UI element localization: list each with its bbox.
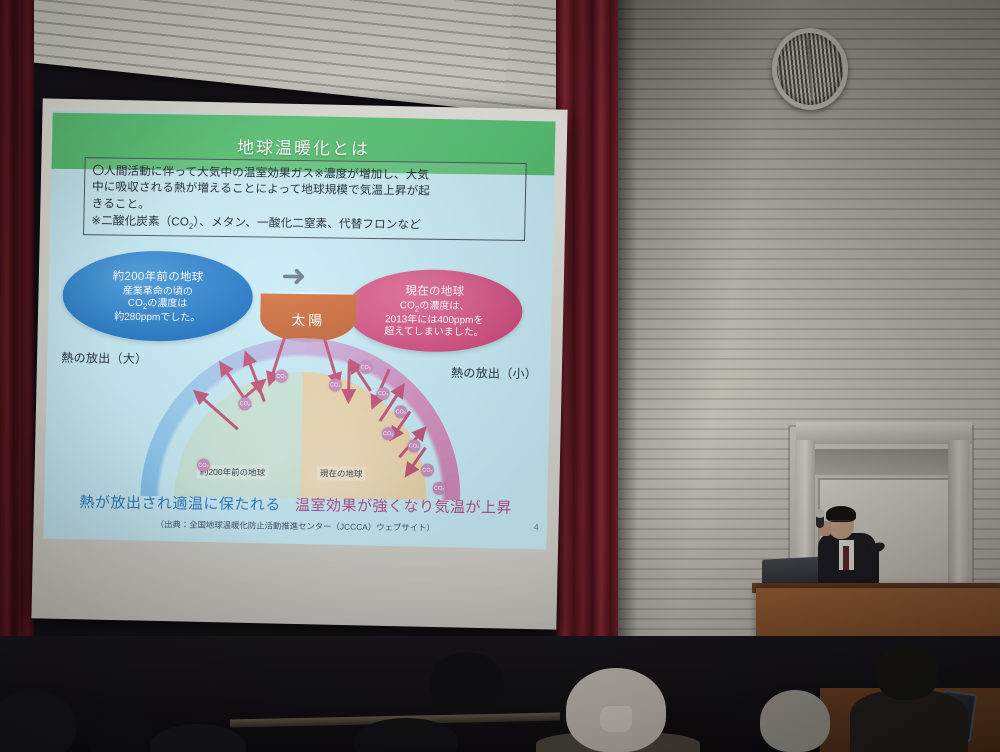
past-earth-line-3: 約280ppmでした。 xyxy=(114,312,200,326)
past-earth-callout: 約200年前の地球 産業革命の頃の CO2の濃度は 約280ppmでした。 xyxy=(62,250,254,342)
slide-body-box: 〇人間活動に伴って大気中の温室効果ガス※濃度が増加し、大気 中に吸収される熱が増… xyxy=(83,157,527,241)
doorway-carving xyxy=(806,449,956,475)
microphone-head-icon xyxy=(815,509,825,518)
present-earth-heading: 現在の地球 xyxy=(405,282,464,299)
conclusion-right: 温室効果が強くなり気温が上昇 xyxy=(295,494,512,518)
glasses-icon xyxy=(829,520,849,525)
present-co2-prefix: CO xyxy=(400,300,415,311)
present-earth-line-3: 超えてしまいました。 xyxy=(384,326,484,340)
past-earth-line-2: CO2の濃度は xyxy=(128,298,188,313)
audience-face-mask xyxy=(600,706,632,732)
heat-release-large-label: 熱の放出（大） xyxy=(61,349,147,367)
right-arrow-icon: ➜ xyxy=(281,264,338,291)
present-co2-suffix: の濃度は、 xyxy=(419,300,469,312)
stage-curtain-left xyxy=(0,0,34,690)
earth-dome-diagram: 約200年前の地球 現在の地球 CO₂ CO₂ CO₂ CO₂ CO₂ CO₂ … xyxy=(140,336,463,500)
audience-head xyxy=(430,652,504,714)
footnote-prefix: ※二酸化炭素（CO xyxy=(91,215,189,229)
present-earth-line-1: CO2の濃度は、 xyxy=(400,300,470,315)
audience-head-gray-hair xyxy=(760,690,830,752)
past-co2-suffix: の濃度は xyxy=(147,298,187,310)
presenter-tie xyxy=(843,546,849,570)
stage-curtain-right xyxy=(556,0,618,700)
slide-page-number: 4 xyxy=(534,522,539,532)
past-earth-heading: 約200年前の地球 xyxy=(113,267,204,284)
past-co2-prefix: CO xyxy=(128,298,143,309)
doorway-lintel xyxy=(796,422,972,444)
earth-present-label: 現在の地球 xyxy=(317,466,366,481)
conclusion-left: 熱が放出され適温に保たれる xyxy=(79,491,281,515)
projected-slide: 地球温暖化とは 〇人間活動に伴って大気中の温室効果ガス※濃度が増加し、大気 中に… xyxy=(43,111,555,550)
heat-release-small-label: 熱の放出（小） xyxy=(451,364,537,382)
heat-arrows xyxy=(140,336,463,500)
slide-conclusion: 熱が放出され適温に保たれる 温室効果が強くなり気温が上昇 xyxy=(44,491,547,519)
footnote-suffix: ）、メタン、一酸化二窒素、代替フロンなど xyxy=(193,216,421,232)
lecture-hall-scene: 地球温暖化とは 〇人間活動に伴って大気中の温室効果ガス※濃度が増加し、大気 中に… xyxy=(0,0,1000,752)
slide-source: （出典：全国地球温暖化防止活動推進センター（JCCCA）ウェブサイト） xyxy=(44,517,547,536)
audience-head xyxy=(876,644,938,700)
sun-shape: 太陽 xyxy=(260,293,357,342)
past-earth-line-1: 産業革命の頃の xyxy=(123,285,193,298)
